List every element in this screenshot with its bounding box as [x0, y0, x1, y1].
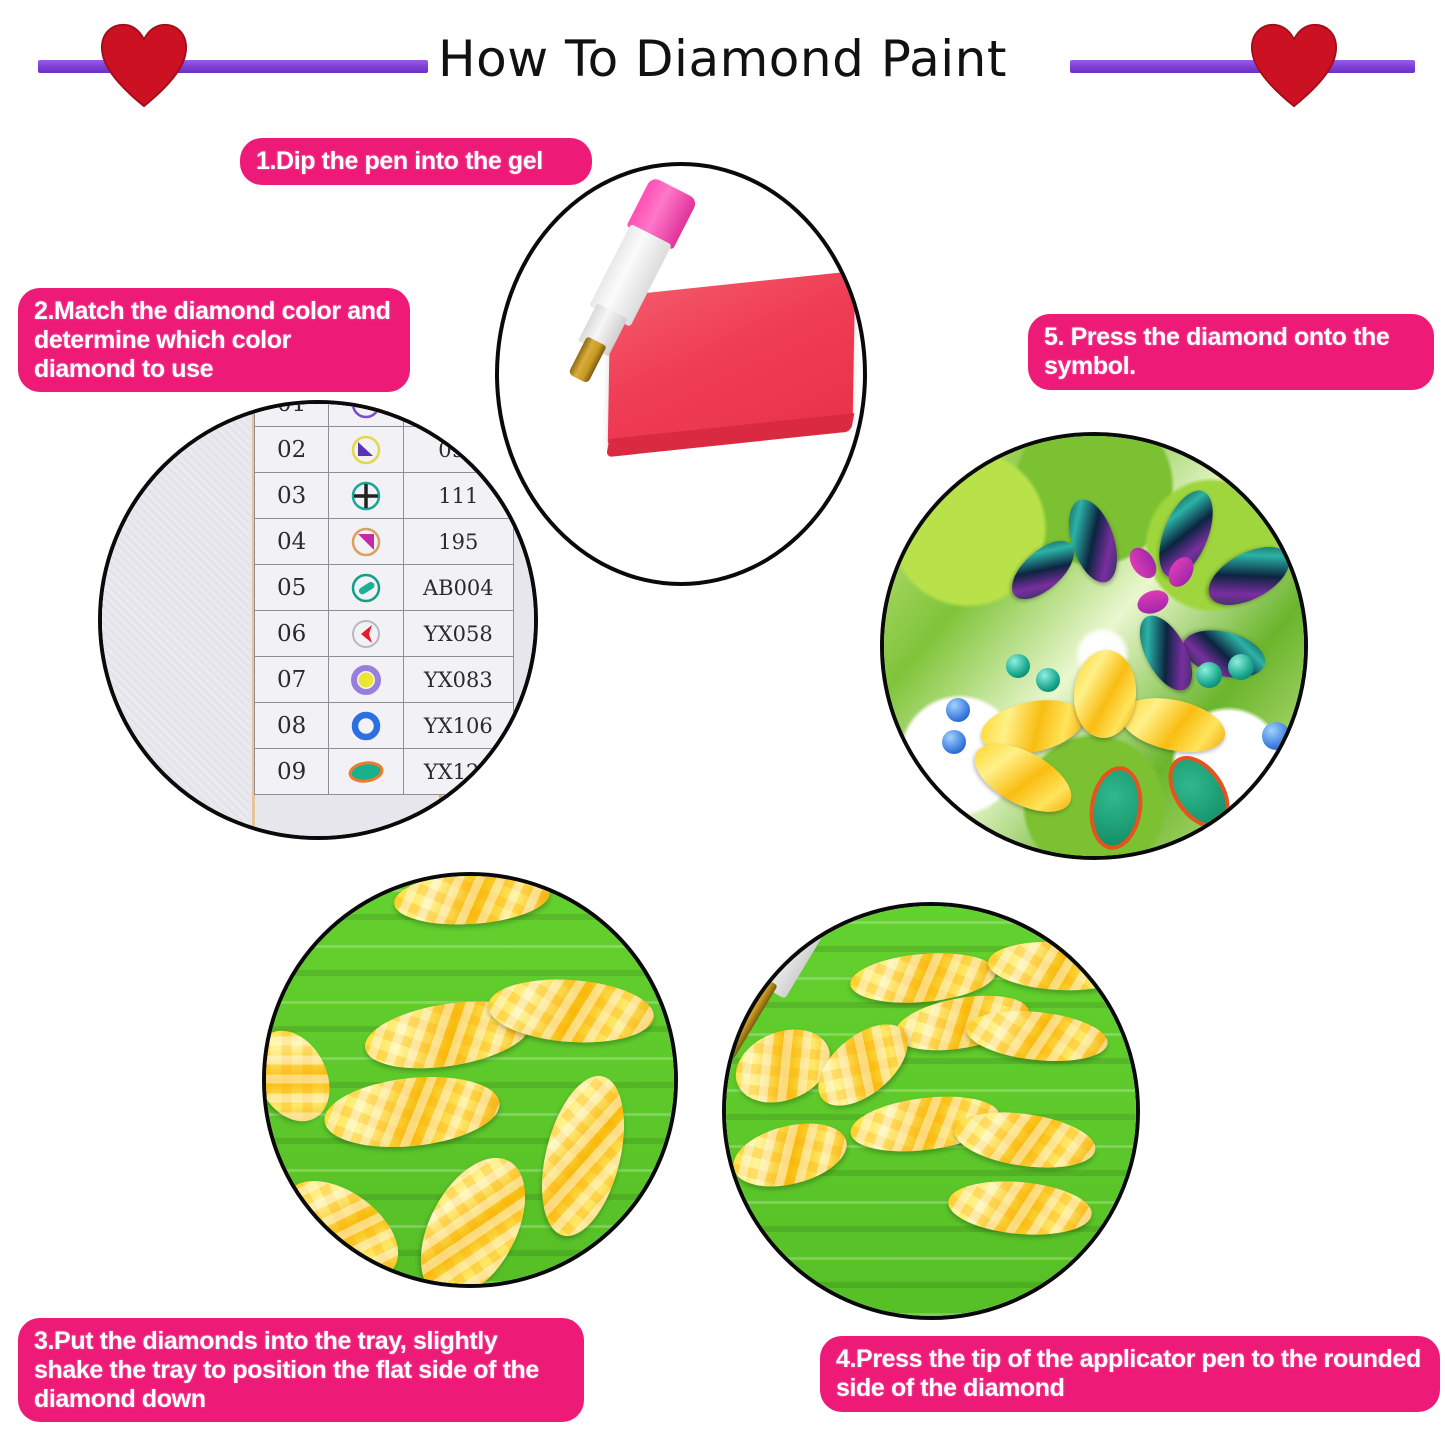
step-5-photo [880, 432, 1308, 860]
chart-code: YX058 [403, 611, 513, 657]
tray-diamond [946, 1176, 1094, 1240]
table-row: 01 028 [255, 400, 514, 427]
step-2-label: 2.Match the diamond color and determine … [18, 288, 410, 392]
chart-number: 04 [255, 519, 329, 565]
chart-number: 01 [255, 400, 329, 427]
double-dot-symbol [329, 400, 403, 427]
tray-diamond [321, 1069, 503, 1155]
purple-triangle-symbol [329, 427, 403, 473]
mosaic-gem-teal [1006, 654, 1030, 678]
table-row: 03 111 [255, 473, 514, 519]
tray-diamond [392, 872, 551, 929]
mosaic-gem-teal [1196, 662, 1222, 688]
tray-diamond [964, 1005, 1110, 1068]
table-row: 04 195 [255, 519, 514, 565]
chart-number: 05 [255, 565, 329, 611]
step-4-label: 4.Press the tip of the applicator pen to… [820, 1336, 1440, 1412]
canvas-texture [102, 404, 250, 836]
color-chart-table: 01 028 [254, 400, 514, 795]
blue-ring-symbol [329, 703, 403, 749]
table-row: 09 YX125 [255, 749, 514, 795]
mosaic-gem-blue [942, 730, 966, 754]
teal-bar-symbol [329, 565, 403, 611]
chart-code: 093 [403, 427, 513, 473]
chart-code: YX125 [403, 749, 513, 795]
mosaic-gem-blue [946, 698, 970, 722]
table-row: 06 YX058 [255, 611, 514, 657]
teal-leaf-symbol [329, 749, 403, 795]
pen-tip [568, 336, 607, 383]
chart-number: 03 [255, 473, 329, 519]
pen-dipping-into-gel-photo [499, 166, 863, 582]
mosaic-gem-dark [1060, 494, 1127, 589]
mosaic-gem-teal [1036, 668, 1060, 692]
cross-symbol [329, 473, 403, 519]
table-row: 02 093 [255, 427, 514, 473]
pen-picking-diamond-photo [726, 906, 1136, 1316]
mosaic-gem-teal [1228, 654, 1254, 680]
mosaic-gem-magenta [1124, 543, 1162, 583]
chart-number: 02 [255, 427, 329, 473]
chart-code: YX106 [403, 703, 513, 749]
chart-number: 09 [255, 749, 329, 795]
magenta-triangle-symbol [329, 519, 403, 565]
tray-diamond [727, 1113, 854, 1197]
step-3-label: 3.Put the diamonds into the tray, slight… [18, 1318, 584, 1422]
table-row: 07 YX083 [255, 657, 514, 703]
step-1-photo [495, 162, 867, 586]
mosaic-gem-dark [1199, 535, 1298, 617]
tray-diamond [399, 1141, 546, 1288]
red-chevron-symbol [329, 611, 403, 657]
chart-code: YX083 [403, 657, 513, 703]
yellow-diamonds-on-green-tray-photo [266, 876, 674, 1284]
chart-number: 08 [255, 703, 329, 749]
mosaic-leaf-outline [1084, 763, 1147, 853]
tray-diamond [266, 1161, 416, 1288]
step-3-photo [262, 872, 678, 1288]
yellow-dot-symbol [329, 657, 403, 703]
chart-code: 195 [403, 519, 513, 565]
chart-code: AB004 [403, 565, 513, 611]
table-row: 05 AB004 [255, 565, 514, 611]
tray-diamond [951, 1104, 1099, 1175]
tray-diamond [987, 938, 1131, 993]
applicator-pen [880, 432, 955, 626]
mosaic-gem-blue [1262, 722, 1290, 750]
color-chart-photo: 01 028 [102, 404, 534, 836]
diamond-mosaic-photo [884, 436, 1304, 856]
step-4-photo [722, 902, 1140, 1320]
step-5-label: 5. Press the diamond onto the symbol. [1028, 314, 1434, 390]
chart-number: 06 [255, 611, 329, 657]
chart-number: 07 [255, 657, 329, 703]
chart-code: 028 [403, 400, 513, 427]
page-title: How To Diamond Paint [0, 30, 1445, 88]
table-row: 08 YX106 [255, 703, 514, 749]
step-2-photo: 01 028 [98, 400, 538, 840]
infographic-canvas: How To Diamond Paint 1.Dip the pen into … [0, 0, 1445, 1445]
mosaic-leaf-outline [1156, 745, 1242, 839]
tray-diamond [527, 1067, 638, 1244]
chart-code: 111 [403, 473, 513, 519]
mosaic-gem-magenta [1134, 586, 1172, 618]
